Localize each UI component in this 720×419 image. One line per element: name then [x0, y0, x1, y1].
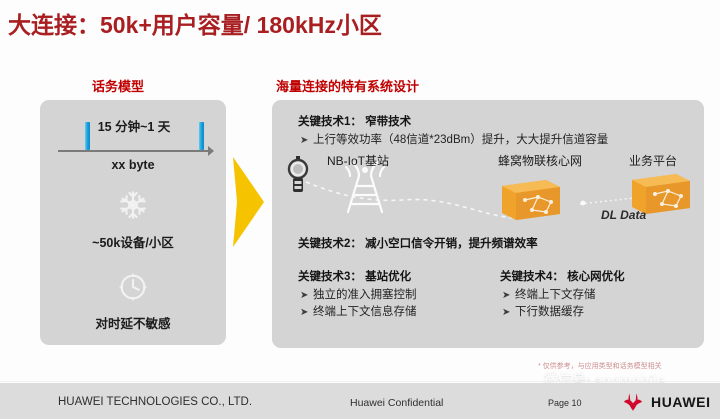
- key-tech-4-title: 关键技术4： 核心网优化: [500, 268, 625, 284]
- key-tech-4-bullet-1-text: 终端上下文存储: [515, 289, 596, 301]
- bullet-arrow-icon: ➤: [300, 135, 313, 146]
- huawei-logo: HUAWEI: [620, 391, 711, 413]
- key-tech-3-bullet-2: ➤终端上下文信息存储: [300, 303, 417, 319]
- footer-company: HUAWEI TECHNOLOGIES CO., LTD.: [58, 396, 252, 408]
- delay-tolerance-label: 对时延不敏感: [40, 313, 226, 332]
- snowflake-icon: [40, 188, 226, 227]
- node-label-basestation: NB-IoT基站: [327, 152, 389, 169]
- timeline-label: 15 分钟~1 天: [58, 116, 210, 135]
- key-tech-2-title: 关键技术2： 减小空口信令开销，提升频谱效率: [298, 235, 538, 251]
- clock-icon: [40, 270, 226, 309]
- bullet-arrow-icon: ➤: [502, 307, 515, 318]
- timeline-bar-start: [85, 122, 90, 150]
- cell-tower-icon: [346, 162, 384, 212]
- right-column-heading: 海量连接的特有系统设计: [276, 76, 419, 95]
- timeline-axis: [58, 150, 210, 152]
- utility-meter-icon: [289, 156, 307, 192]
- node-label-core-network: 蜂窝物联核心网: [498, 152, 582, 169]
- key-tech-1-bullet-1-text: 上行等效功率（48信道*23dBm）提升，大大提升信道容量: [313, 134, 608, 146]
- dl-data-link-label: DL Data: [601, 208, 646, 222]
- timeline-arrowhead: [208, 146, 214, 156]
- bullet-arrow-icon: ➤: [300, 290, 313, 301]
- huawei-wordmark: HUAWEI: [651, 394, 711, 410]
- timeline-bar-end: [199, 122, 204, 150]
- key-tech-3-title: 关键技术3： 基站优化: [298, 268, 411, 284]
- footer-confidentiality: Huawei Confidential: [350, 397, 443, 409]
- network-box-icon-core: [502, 180, 560, 220]
- huawei-flower-icon: [620, 391, 646, 413]
- key-tech-4-bullet-2-text: 下行数据缓存: [515, 306, 584, 318]
- key-tech-4-bullet-2: ➤下行数据缓存: [502, 303, 584, 319]
- timeline-graphic: 15 分钟~1 天: [58, 112, 210, 158]
- footer-page-number: Page 10: [548, 398, 582, 408]
- footer-divider: [0, 381, 720, 382]
- key-tech-1-title: 关键技术1： 窄带技术: [298, 113, 411, 129]
- slide-canvas: 大连接：50k+用户容量/ 180kHz小区 话务模型 海量连接的特有系统设计 …: [0, 0, 720, 419]
- bullet-arrow-icon: ➤: [502, 290, 515, 301]
- left-column-heading: 话务模型: [92, 76, 144, 95]
- key-tech-3-bullet-2-text: 终端上下文信息存储: [313, 306, 417, 318]
- flow-arrow-icon: [233, 157, 264, 247]
- device-density-label: ~50k设备/小区: [40, 232, 226, 251]
- byte-label: xx byte: [40, 158, 226, 172]
- bullet-arrow-icon: ➤: [300, 307, 313, 318]
- key-tech-1-bullet-1: ➤上行等效功率（48信道*23dBm）提升，大大提升信道容量: [300, 131, 608, 147]
- page-title: 大连接：50k+用户容量/ 180kHz小区: [8, 6, 382, 40]
- node-label-service-platform: 业务平台: [629, 152, 677, 169]
- key-tech-3-bullet-1-text: 独立的准入拥塞控制: [313, 289, 417, 301]
- key-tech-3-bullet-1: ➤独立的准入拥塞控制: [300, 286, 417, 302]
- key-tech-4-bullet-1: ➤终端上下文存储: [502, 286, 596, 302]
